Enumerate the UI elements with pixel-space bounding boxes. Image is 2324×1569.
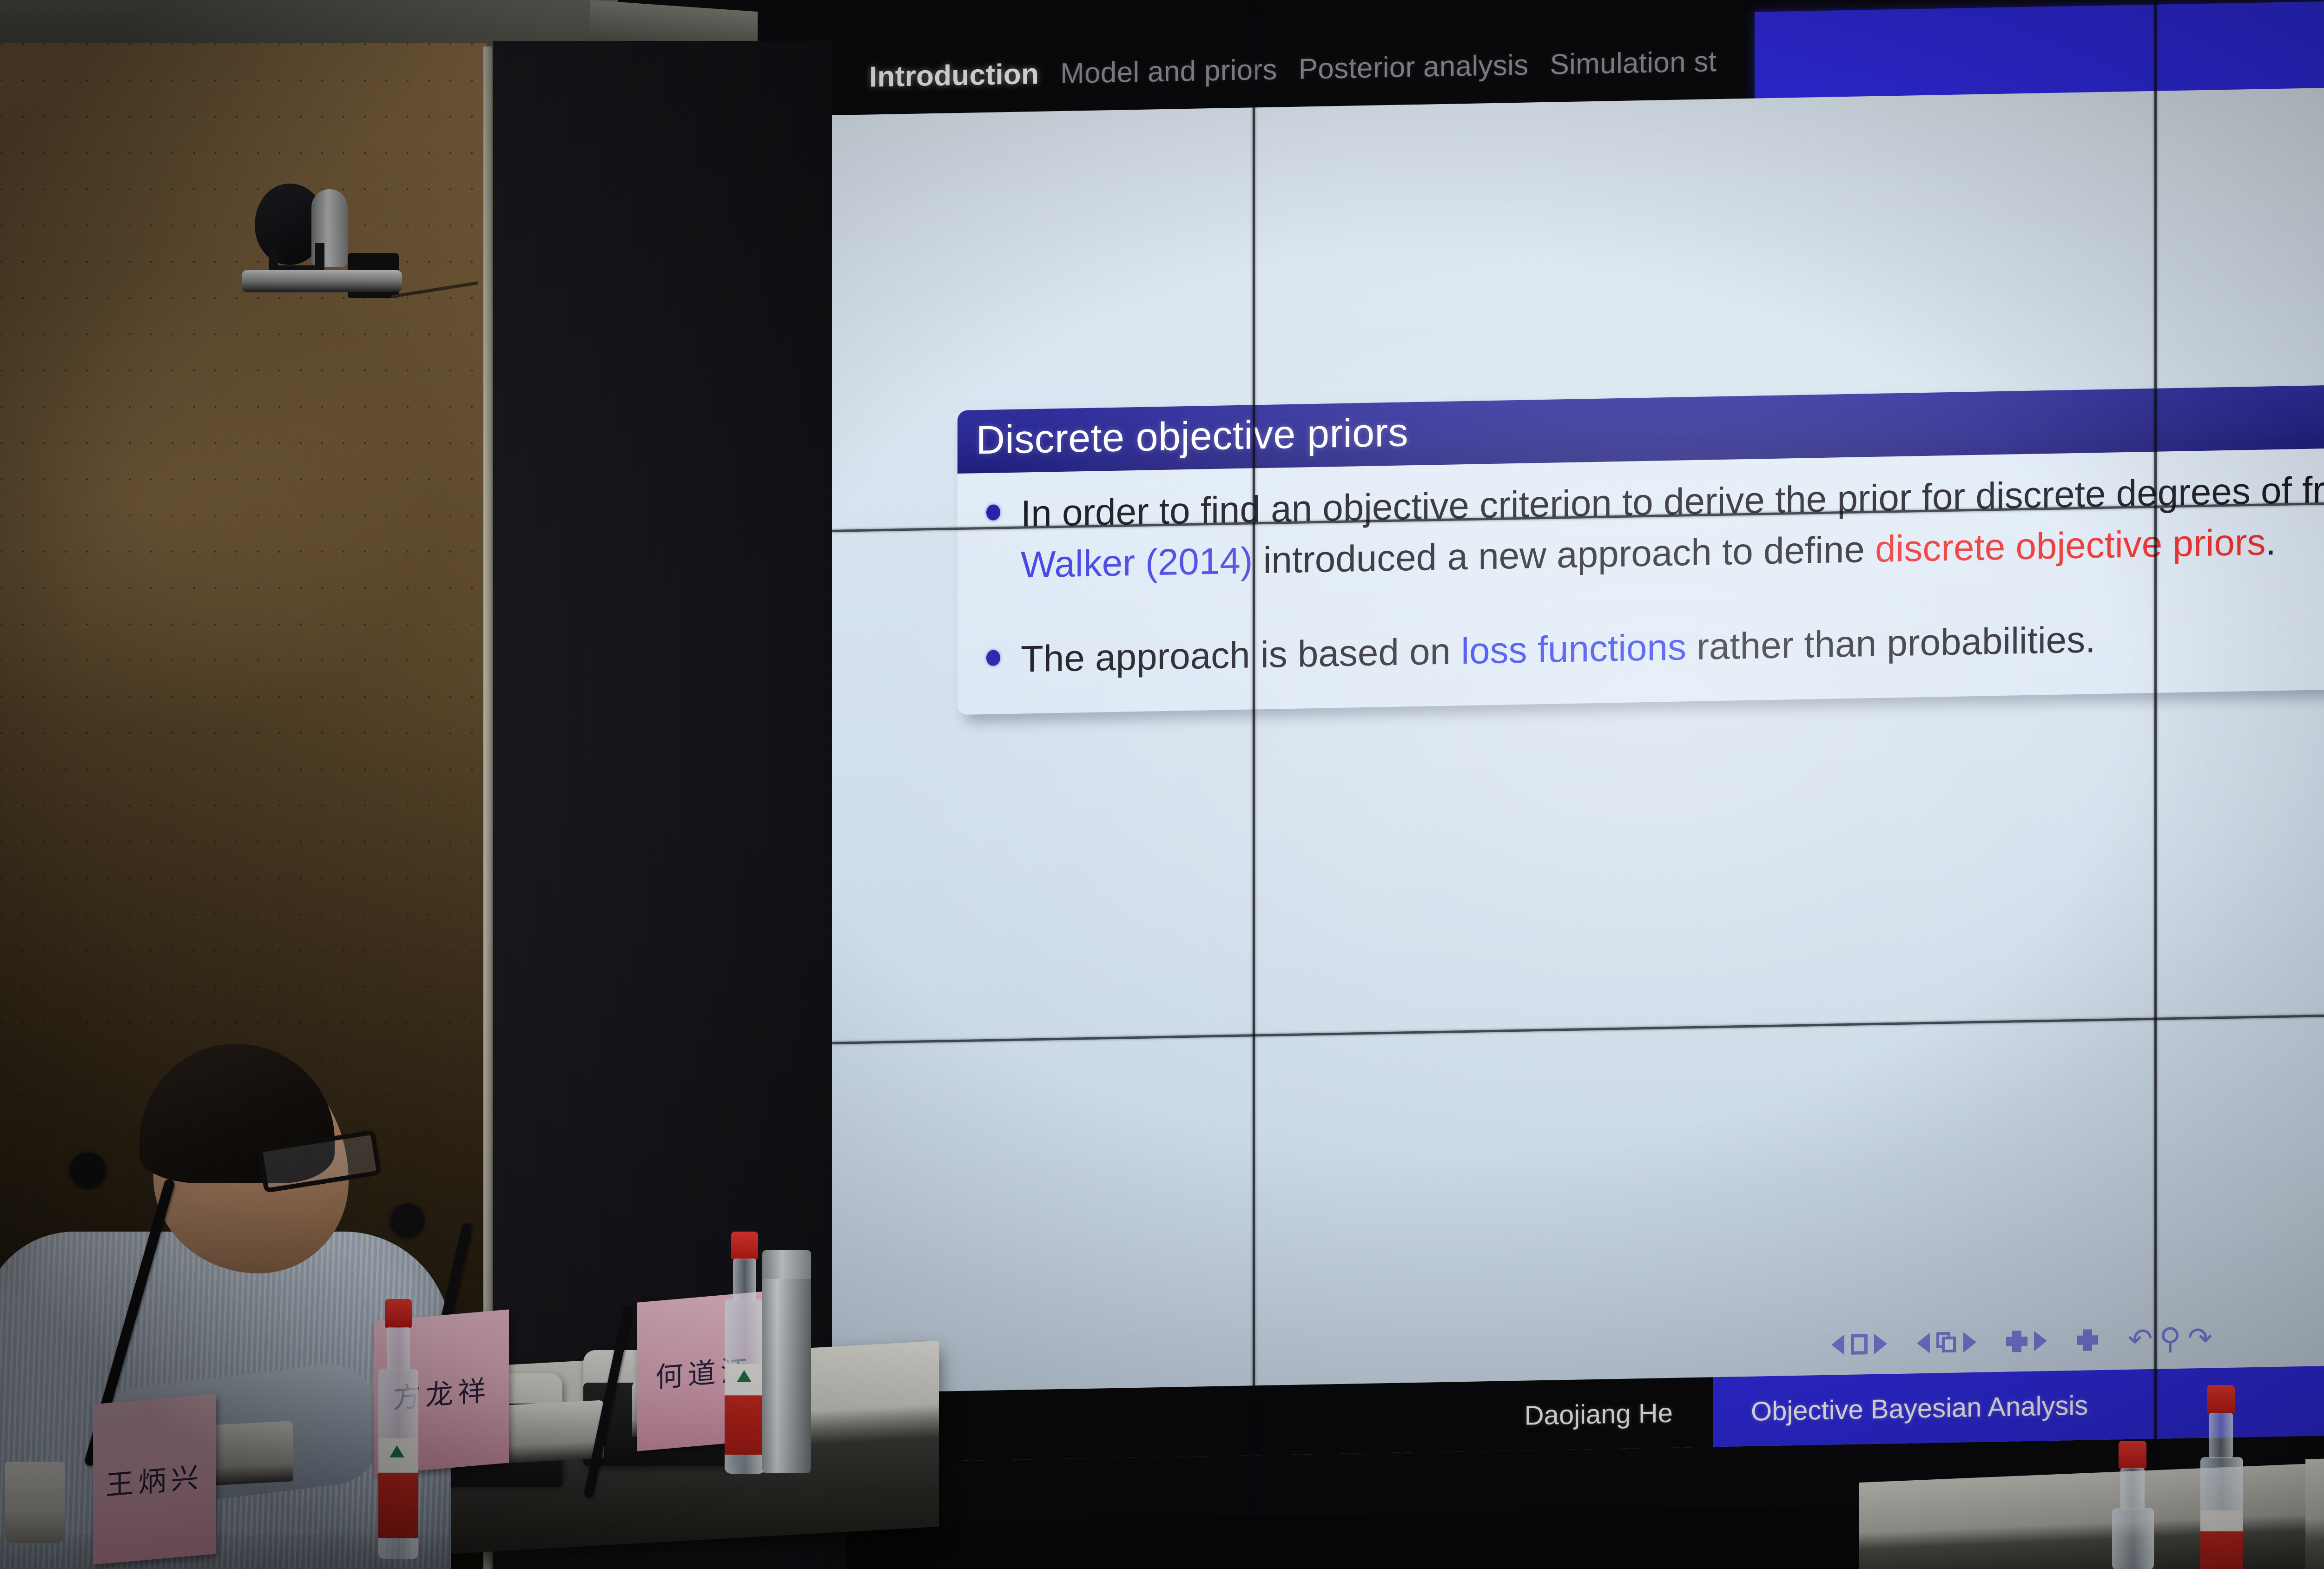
nav-item-model-and-priors[interactable]: Model and priors — [1060, 53, 1277, 90]
prev-subsection-icon[interactable] — [1917, 1333, 1930, 1354]
camera-base — [242, 270, 402, 292]
struct-loss-functions: loss functions — [1461, 626, 1686, 672]
nav-highlight-panel — [1755, 0, 2324, 101]
alert-discrete-objective-priors: discrete objective priors — [1875, 521, 2265, 570]
next-section-icon[interactable] — [2034, 1331, 2047, 1351]
thermos-flask — [762, 1255, 811, 1473]
frame-icon[interactable] — [1851, 1334, 1868, 1355]
bottle-neck — [733, 1259, 756, 1301]
panel-seam-vertical — [1253, 0, 1255, 1516]
nav-item-posterior-analysis[interactable]: Posterior analysis — [1299, 49, 1529, 86]
subsection-nav-group[interactable] — [1917, 1332, 1976, 1354]
microphone-capsule — [390, 1204, 425, 1238]
bullet-list: In order to find an objective criterion … — [976, 459, 2324, 686]
bottle-neck — [387, 1327, 410, 1371]
history-nav-group[interactable]: ↶ ⚲ ↷ — [2128, 1323, 2212, 1354]
bottle-cap — [385, 1299, 412, 1328]
forward-icon[interactable]: ↷ — [2188, 1323, 2213, 1353]
next-slide-icon[interactable] — [1874, 1333, 1887, 1354]
slide-canvas: Discrete objective priors In order to fi… — [832, 79, 2324, 1463]
bottle-cap — [731, 1232, 758, 1259]
nav-item-introduction[interactable]: Introduction — [869, 58, 1039, 94]
content-block: Discrete objective priors In order to fi… — [957, 380, 2324, 715]
footer-title: Objective Bayesian Analysis — [1751, 1390, 2088, 1427]
paper-cup — [5, 1462, 65, 1543]
bullet-text-period-1: . — [2266, 521, 2276, 562]
video-wall: Introduction Model and priors Posterior … — [832, 0, 2324, 1524]
panel-table-right — [2305, 1442, 2324, 1569]
bottle-neck — [2120, 1468, 2145, 1510]
bullet-text-normal-4: rather than probabilities. — [1686, 619, 2096, 667]
bottle-logo-icon — [737, 1370, 752, 1382]
bottle-body — [2112, 1508, 2154, 1569]
nameplate: 王炳兴 — [93, 1393, 216, 1564]
search-icon[interactable]: ⚲ — [2159, 1324, 2181, 1354]
panel-seam-vertical — [2154, 0, 2157, 1500]
doc-nav-group[interactable] — [2077, 1329, 2098, 1351]
section-icon[interactable] — [2077, 1329, 2098, 1351]
bottle-neck — [2209, 1413, 2233, 1458]
bottle-label — [2200, 1510, 2243, 1569]
back-icon[interactable]: ↶ — [2128, 1324, 2153, 1354]
bullet-text-normal-3: The approach is based on — [1021, 630, 1461, 679]
nav-item-simulation-study[interactable]: Simulation st — [1550, 45, 1717, 81]
thermos-cap — [762, 1250, 811, 1279]
prev-section-icon[interactable] — [2006, 1331, 2027, 1352]
water-bottle — [376, 1299, 419, 1559]
block-body: In order to find an objective criterion … — [957, 443, 2324, 715]
microphone-capsule — [70, 1153, 106, 1189]
bottle-cap — [2119, 1441, 2146, 1469]
bullet-item: The approach is based on loss functions … — [976, 605, 2324, 686]
slide-nav-group[interactable] — [1831, 1333, 1887, 1355]
water-bottle — [2110, 1441, 2155, 1569]
beamer-navigation-symbols[interactable]: ↶ ⚲ ↷ — [1831, 1307, 2324, 1365]
block-title: Discrete objective priors — [957, 380, 2324, 474]
screenshot-root: Introduction Model and priors Posterior … — [0, 0, 2324, 1569]
nameplate-text: 王炳兴 — [106, 1455, 204, 1503]
bottle-logo-icon — [390, 1445, 404, 1457]
ptz-camera-icon — [242, 184, 402, 290]
next-subsection-icon[interactable] — [1963, 1332, 1976, 1353]
water-bottle — [2199, 1385, 2244, 1569]
bullet-text-normal-2: introduced a new approach to define — [1253, 528, 1875, 581]
bottle-cap — [2207, 1385, 2235, 1414]
section-nav-group[interactable] — [2006, 1330, 2047, 1352]
subsection-icon[interactable] — [1936, 1332, 1957, 1354]
water-bottle — [723, 1232, 767, 1473]
prev-slide-icon[interactable] — [1831, 1334, 1844, 1355]
footer-author: Daojiang He — [1525, 1397, 1673, 1431]
